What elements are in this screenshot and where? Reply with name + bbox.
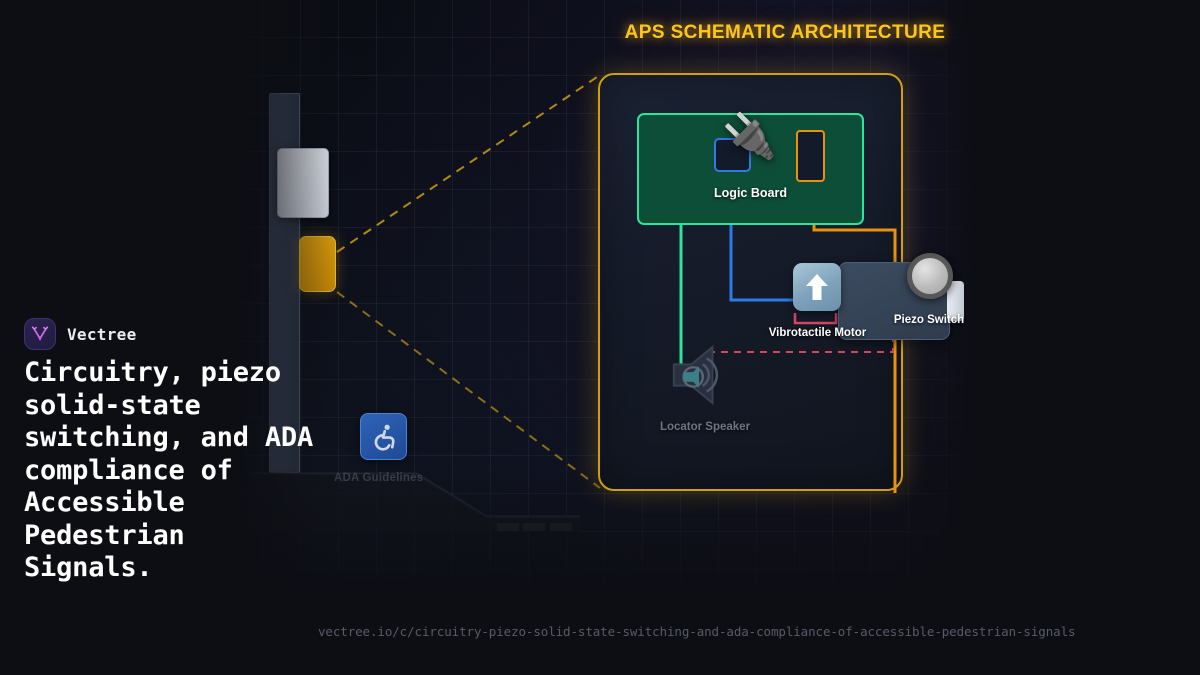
brand-name: Vectree bbox=[67, 325, 137, 344]
round-metal-button-icon[interactable] bbox=[907, 253, 953, 299]
wire-motor-bracket bbox=[795, 313, 836, 323]
locator-speaker-label: Locator Speaker bbox=[620, 421, 790, 433]
page-title: Circuitry, piezo solid-state switching, … bbox=[24, 357, 324, 585]
loudspeaker-icon bbox=[668, 343, 728, 407]
orange-chip-icon bbox=[796, 130, 825, 182]
vectree-v-tree-icon bbox=[24, 318, 56, 350]
logic-board-label: Logic Board bbox=[637, 186, 864, 200]
vibrotactile-motor-label: Vibrotactile Motor bbox=[715, 327, 920, 339]
page-url: vectree.io/c/circuitry-piezo-solid-state… bbox=[318, 624, 1075, 639]
brand: Vectree bbox=[24, 318, 137, 350]
up-arrow-icon bbox=[793, 263, 841, 311]
power-plug-icon: 🔌 bbox=[722, 115, 777, 159]
wheelchair-accessibility-icon bbox=[360, 413, 407, 460]
slide-canvas: ADA Guidelines APS SCHEMATIC ARCHITECTUR… bbox=[0, 0, 1200, 675]
piezo-switch-label: Piezo Switch bbox=[858, 314, 1000, 326]
scene-title: APS SCHEMATIC ARCHITECTURE bbox=[600, 22, 970, 44]
